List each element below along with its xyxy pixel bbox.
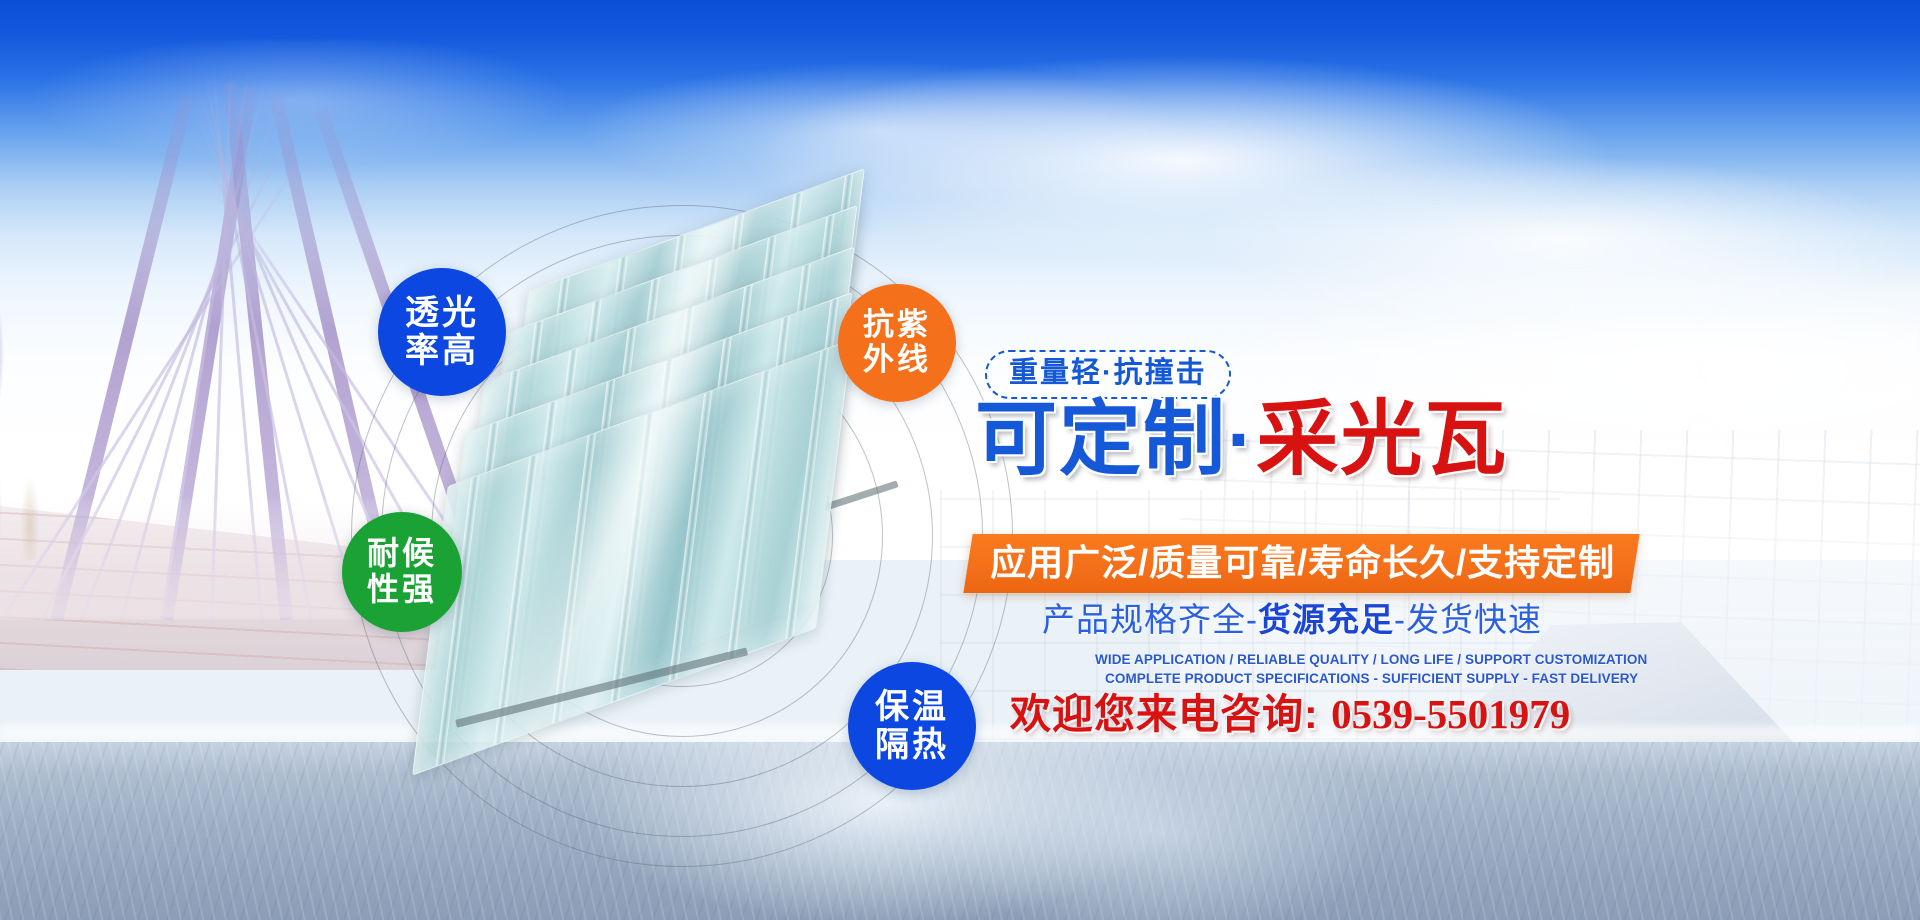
badge-thermal-insulation[interactable]: 保温 隔热: [848, 662, 976, 790]
badge-anti-uv[interactable]: 抗紫 外线: [838, 284, 956, 402]
badge-light-transmission-line2: 率高: [405, 332, 479, 370]
english-tagline-line2: COMPLETE PRODUCT SPECIFICATIONS - SUFFIC…: [1105, 670, 1638, 688]
promo-banner: 透光 率高 抗紫 外线 耐候 性强 保温 隔热 重量轻·抗撞击 可定制·采光瓦 …: [0, 0, 1920, 920]
badge-thermal-insulation-line1: 保温: [875, 688, 949, 726]
headline-blue-part: 可定制: [975, 394, 1227, 485]
badge-weather-resistance-line1: 耐候: [367, 536, 437, 572]
phone-label: 欢迎您来电咨询:: [1010, 691, 1319, 737]
subline-part2: -发货快速: [1394, 601, 1542, 638]
subline-part1: 产品规格齐全-: [1042, 601, 1258, 638]
badge-anti-uv-line2: 外线: [863, 343, 931, 378]
headline-separator-dot: ·: [1227, 394, 1256, 485]
supply-subline: 产品规格齐全-货源充足-发货快速: [1042, 600, 1542, 640]
subline-bold: 货源充足: [1258, 601, 1394, 638]
feature-pill-badge: 重量轻·抗撞击: [985, 350, 1231, 399]
contact-phone-line[interactable]: 欢迎您来电咨询: 0539-5501979: [1010, 690, 1570, 739]
english-tagline-line1: WIDE APPLICATION / RELIABLE QUALITY / LO…: [1095, 651, 1647, 669]
headline-red-part: 采光瓦: [1256, 394, 1508, 485]
feature-list-banner: 应用广泛/质量可靠/寿命长久/支持定制: [963, 534, 1639, 593]
badge-light-transmission[interactable]: 透光 率高: [378, 268, 506, 396]
badge-anti-uv-line1: 抗紫: [863, 308, 931, 343]
page-title: 可定制·采光瓦: [975, 398, 1508, 482]
badge-weather-resistance[interactable]: 耐候 性强: [342, 512, 462, 632]
feature-list-banner-text: 应用广泛/质量可靠/寿命长久/支持定制: [990, 541, 1615, 584]
badge-thermal-insulation-line2: 隔热: [875, 726, 949, 764]
badge-light-transmission-line1: 透光: [405, 294, 479, 332]
badge-weather-resistance-line2: 性强: [367, 572, 437, 608]
phone-number: 0539-5501979: [1331, 691, 1570, 737]
